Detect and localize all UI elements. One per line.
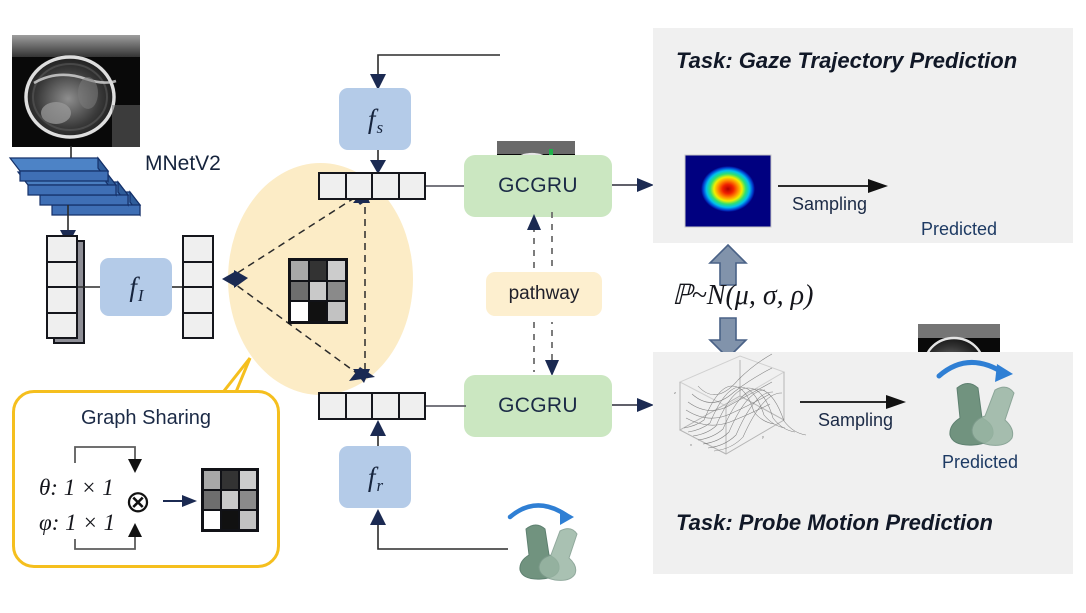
connector-gaze-image-to-fs	[368, 50, 500, 92]
graph-sharing-title: Graph Sharing	[81, 407, 211, 430]
probe-task-title: Task: Probe Motion Prediction	[676, 510, 993, 536]
matrix-cell	[291, 261, 308, 280]
svg-text:z: z	[674, 390, 676, 395]
matrix-cell	[310, 302, 327, 321]
fi-label: fI	[129, 272, 142, 303]
theta-label: θ: 1 × 1	[39, 475, 114, 501]
probe-sampling-label: Sampling	[818, 410, 893, 431]
matrix-cell	[222, 471, 238, 489]
matrix-cell	[240, 491, 256, 509]
probe-motion-3d-gaussian-surface: zxy	[662, 358, 794, 470]
arrow-fs-to-gaze-vector	[368, 150, 388, 174]
matrix-cell	[240, 511, 256, 529]
matrix-cell	[310, 261, 327, 280]
fs-label: fs	[368, 104, 382, 135]
gaze-gcgru-block[interactable]: GCGRU	[464, 155, 612, 217]
matrix-cell	[222, 511, 238, 529]
predicted-probe-render	[925, 348, 1041, 452]
probe-feature-vector	[318, 392, 426, 420]
arrow-probe-gcgru-to-surface	[612, 397, 654, 413]
graph-sharing-output-matrix	[201, 468, 259, 532]
gaze-feature-vector	[318, 172, 426, 200]
matrix-cell	[328, 302, 345, 321]
probe-feature-block-fr[interactable]: fr	[339, 446, 411, 508]
image-feature-vector-input	[46, 235, 78, 339]
arrow-gaze-gcgru-to-heatmap	[612, 177, 654, 193]
distribution-formula: ℙ~N(μ, σ, ρ)	[672, 278, 813, 312]
connector-probe-image-to-fr	[368, 505, 508, 553]
matrix-cell	[310, 282, 327, 301]
matrix-cell	[222, 491, 238, 509]
gaze-feature-block-fs[interactable]: fs	[339, 88, 411, 150]
mnetv2-backbone-layers	[8, 150, 153, 225]
adjacency-matrix	[288, 258, 348, 324]
matrix-cell	[291, 302, 308, 321]
matrix-cell	[328, 282, 345, 301]
connector-probe-vector-to-gcgru	[426, 403, 466, 409]
fr-label: fr	[368, 462, 382, 493]
svg-text:y: y	[762, 434, 764, 439]
tensor-product-operator: ⊗	[125, 486, 151, 517]
matrix-cell	[204, 471, 220, 489]
phi-label: φ: 1 × 1	[39, 510, 115, 536]
matrix-cell	[328, 261, 345, 280]
probe-input-render	[498, 495, 598, 585]
matrix-cell	[240, 471, 256, 489]
gaze-task-title: Task: Gaze Trajectory Prediction	[676, 48, 1017, 74]
gaze-sampling-arrow	[778, 178, 888, 194]
matrix-cell	[291, 282, 308, 301]
connector-vector-to-fi	[78, 284, 102, 290]
matrix-cell	[204, 511, 220, 529]
arrow-fr-to-probe-vector	[368, 420, 388, 446]
input-ultrasound-image	[12, 35, 140, 147]
matrix-cell	[204, 491, 220, 509]
connector-gaze-vector-to-gcgru	[426, 183, 466, 189]
image-feature-block-fi[interactable]: fI	[100, 258, 172, 316]
graph-sharing-callout: Graph Sharing θ: 1 × 1 φ: 1 × 1 ⊗	[12, 390, 280, 568]
probe-gcgru-block[interactable]: GCGRU	[464, 375, 612, 437]
gaze-sampling-label: Sampling	[792, 194, 867, 215]
probe-sampling-arrow	[800, 394, 906, 410]
arrow-operator-to-matrix	[163, 493, 197, 509]
pathway-block[interactable]: pathway	[486, 272, 602, 316]
gaze-probability-heatmap	[685, 155, 771, 227]
gaze-predicted-caption: Predicted	[918, 219, 1000, 240]
svg-text:x: x	[690, 442, 692, 447]
probe-predicted-caption: Predicted	[920, 452, 1040, 473]
